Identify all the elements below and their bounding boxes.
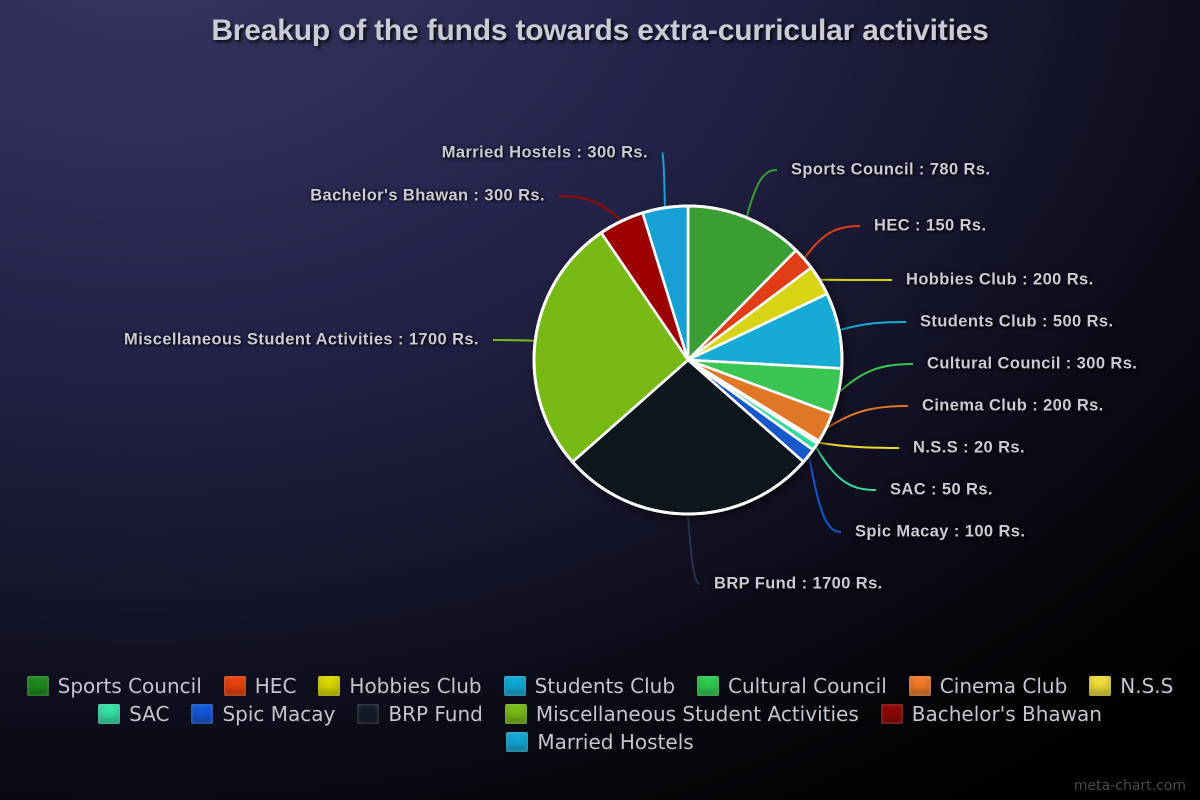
slice-label: Spic Macay : 100 Rs.	[855, 523, 1025, 542]
chart-legend: Sports CouncilHECHobbies ClubStudents Cl…	[0, 672, 1200, 756]
legend-item[interactable]: Cultural Council	[697, 672, 887, 700]
legend-swatch-icon	[697, 676, 719, 696]
legend-item[interactable]: Cinema Club	[909, 672, 1068, 700]
legend-item-label: Hobbies Club	[349, 676, 481, 696]
legend-item-label: Students Club	[535, 676, 675, 696]
legend-swatch-icon	[1089, 676, 1111, 696]
pie-slices	[534, 206, 842, 514]
leader-line	[688, 515, 700, 584]
legend-swatch-icon	[505, 704, 527, 724]
slice-label: Hobbies Club : 200 Rs.	[906, 271, 1094, 290]
legend-item[interactable]: N.S.S	[1089, 672, 1173, 700]
legend-item-label: SAC	[129, 704, 169, 724]
legend-item-label: N.S.S	[1120, 676, 1173, 696]
legend-swatch-icon	[98, 704, 120, 724]
legend-item[interactable]: SAC	[98, 700, 169, 728]
slice-label: HEC : 150 Rs.	[874, 217, 987, 236]
legend-swatch-icon	[504, 676, 526, 696]
slice-label: Cultural Council : 300 Rs.	[927, 355, 1137, 374]
legend-swatch-icon	[881, 704, 903, 724]
legend-item-label: Cinema Club	[940, 676, 1068, 696]
legend-item-label: Miscellaneous Student Activities	[536, 704, 859, 724]
legend-swatch-icon	[191, 704, 213, 724]
legend-item-label: Married Hostels	[537, 732, 693, 752]
slice-label: Miscellaneous Student Activities : 1700 …	[124, 331, 479, 350]
legend-item[interactable]: Students Club	[504, 672, 675, 700]
slice-label: Sports Council : 780 Rs.	[791, 161, 990, 180]
legend-item[interactable]: BRP Fund	[357, 700, 483, 728]
legend-item-label: Sports Council	[58, 676, 202, 696]
slice-label: Students Club : 500 Rs.	[920, 313, 1113, 332]
slice-label: Bachelor's Bhawan : 300 Rs.	[310, 187, 545, 206]
legend-swatch-icon	[357, 704, 379, 724]
legend-swatch-icon	[318, 676, 340, 696]
legend-item-label: BRP Fund	[388, 704, 483, 724]
legend-swatch-icon	[909, 676, 931, 696]
leader-line	[805, 226, 860, 258]
watermark: meta-chart.com	[1074, 778, 1186, 794]
leader-line	[827, 406, 908, 428]
legend-item[interactable]: Spic Macay	[191, 700, 335, 728]
leader-line	[840, 322, 906, 330]
slice-label: Cinema Club : 200 Rs.	[922, 397, 1104, 416]
legend-item[interactable]: Married Hostels	[506, 728, 693, 756]
leader-line	[493, 340, 534, 341]
leader-line	[809, 457, 841, 532]
legend-item-label: Bachelor's Bhawan	[912, 704, 1102, 724]
leader-line	[559, 196, 621, 220]
legend-item-label: HEC	[255, 676, 297, 696]
chart-canvas: Breakup of the funds towards extra-curri…	[0, 0, 1200, 800]
slice-label: Married Hostels : 300 Rs.	[442, 144, 648, 163]
legend-item[interactable]: Sports Council	[27, 672, 202, 700]
leader-line	[816, 447, 876, 490]
legend-swatch-icon	[27, 676, 49, 696]
leader-line	[747, 170, 777, 217]
legend-swatch-icon	[506, 732, 528, 752]
legend-item[interactable]: Bachelor's Bhawan	[881, 700, 1102, 728]
leader-line	[662, 153, 665, 207]
legend-item-label: Cultural Council	[728, 676, 887, 696]
slice-label: BRP Fund : 1700 Rs.	[714, 575, 883, 594]
legend-item[interactable]: HEC	[224, 672, 297, 700]
legend-item[interactable]: Hobbies Club	[318, 672, 481, 700]
leader-line	[840, 364, 913, 392]
slice-label: N.S.S : 20 Rs.	[913, 439, 1025, 458]
legend-swatch-icon	[224, 676, 246, 696]
leader-line	[819, 443, 899, 448]
legend-item-label: Spic Macay	[222, 704, 335, 724]
slice-label: SAC : 50 Rs.	[890, 481, 993, 500]
legend-item[interactable]: Miscellaneous Student Activities	[505, 700, 859, 728]
